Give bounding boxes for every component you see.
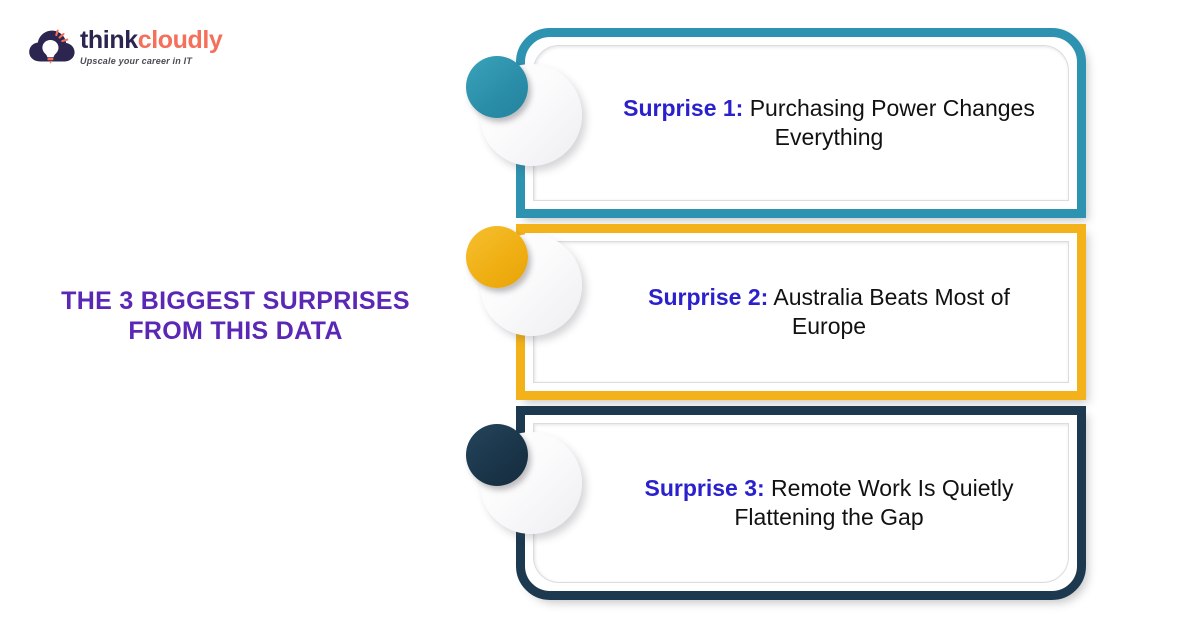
brand-logo[interactable]: thinkcloudly Upscale your career in IT (28, 26, 243, 74)
brand-name-think: think (80, 26, 138, 54)
surprise-card-3-lead: Surprise 3: (645, 475, 765, 501)
slide-canvas: thinkcloudly Upscale your career in IT T… (0, 0, 1200, 627)
surprise-card-1-text: Surprise 1: Purchasing Power Changes Eve… (558, 94, 1044, 152)
brand-name-cloudly: cloudly (138, 26, 223, 54)
surprise-card-3-text: Surprise 3: Remote Work Is Quietly Flatt… (558, 474, 1044, 532)
surprise-card-3-body: Remote Work Is Quietly Flattening the Ga… (734, 475, 1013, 530)
surprise-card-1[interactable]: Surprise 1: Purchasing Power Changes Eve… (516, 28, 1086, 218)
surprise-card-3[interactable]: Surprise 3: Remote Work Is Quietly Flatt… (516, 406, 1086, 600)
cloud-lightbulb-icon (28, 28, 76, 68)
surprise-card-2-body: Australia Beats Most of Europe (768, 284, 1010, 339)
brand-wordmark: thinkcloudly Upscale your career in IT (80, 26, 242, 67)
surprise-card-1-inner: Surprise 1: Purchasing Power Changes Eve… (533, 45, 1069, 201)
surprise-card-1-body: Purchasing Power Changes Everything (743, 95, 1035, 150)
surprises-card-stack: Surprise 1: Purchasing Power Changes Eve… (516, 28, 1086, 600)
surprise-card-3-inner: Surprise 3: Remote Work Is Quietly Flatt… (533, 423, 1069, 583)
page-title: THE 3 BIGGEST SURPRISES FROM THIS DATA (48, 286, 423, 346)
surprise-card-2-text: Surprise 2: Australia Beats Most of Euro… (558, 283, 1044, 341)
surprise-card-2-lead: Surprise 2: (648, 284, 768, 310)
brand-tagline: Upscale your career in IT (80, 55, 242, 67)
surprise-card-2-inner: Surprise 2: Australia Beats Most of Euro… (533, 241, 1069, 383)
brand-name: thinkcloudly (80, 26, 242, 54)
surprise-card-2[interactable]: Surprise 2: Australia Beats Most of Euro… (516, 224, 1086, 400)
surprise-card-1-lead: Surprise 1: (623, 95, 743, 121)
